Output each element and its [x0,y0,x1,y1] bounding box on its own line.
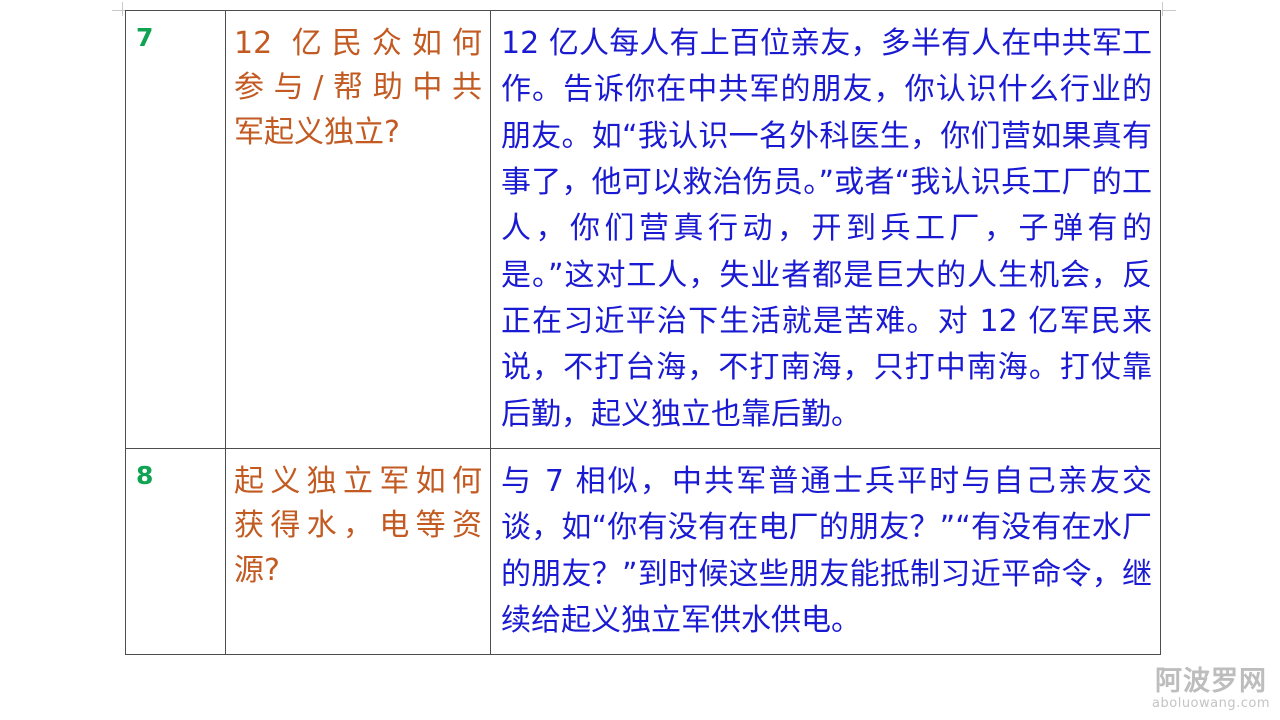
watermark: 阿波罗网 aboluowang.com [1152,668,1270,712]
watermark-domain-text: aboluowang.com [1152,696,1270,712]
question-cell: 起义独立军如何 获得水，电等资 源? [226,449,491,655]
question-line: 源? [234,549,482,593]
question-line: 获得水，电等资 [234,504,482,548]
qa-table: 7 12 亿民众如何 参与/帮助中共 军起义独立? 12 亿人每人有上百位亲友，… [125,10,1161,655]
row-number: 7 [126,11,225,50]
answer-text: 与 7 相似，中共军普通士兵平时与自己亲友交谈，如“你有没有在电厂的朋友？”“有… [501,459,1152,644]
table-row: 8 起义独立军如何 获得水，电等资 源? 与 7 相似，中共军普通士兵平时与自己… [126,449,1161,655]
row-number-cell: 8 [126,449,226,655]
table-row: 7 12 亿民众如何 参与/帮助中共 军起义独立? 12 亿人每人有上百位亲友，… [126,11,1161,449]
answer-text: 12 亿人每人有上百位亲友，多半有人在中共军工作。告诉你在中共军的朋友，你认识什… [501,21,1152,438]
question-line: 参与/帮助中共 [234,66,482,110]
row-number-cell: 7 [126,11,226,449]
question-line: 起义独立军如何 [234,460,482,504]
watermark-chinese-text: 阿波罗网 [1152,668,1270,696]
answer-cell: 12 亿人每人有上百位亲友，多半有人在中共军工作。告诉你在中共军的朋友，你认识什… [491,11,1161,449]
row-number: 8 [126,449,225,488]
question-line: 军起义独立? [234,111,482,155]
question-cell: 12 亿民众如何 参与/帮助中共 军起义独立? [226,11,491,449]
question-line: 12 亿民众如何 [234,22,482,66]
answer-cell: 与 7 相似，中共军普通士兵平时与自己亲友交谈，如“你有没有在电厂的朋友？”“有… [491,449,1161,655]
